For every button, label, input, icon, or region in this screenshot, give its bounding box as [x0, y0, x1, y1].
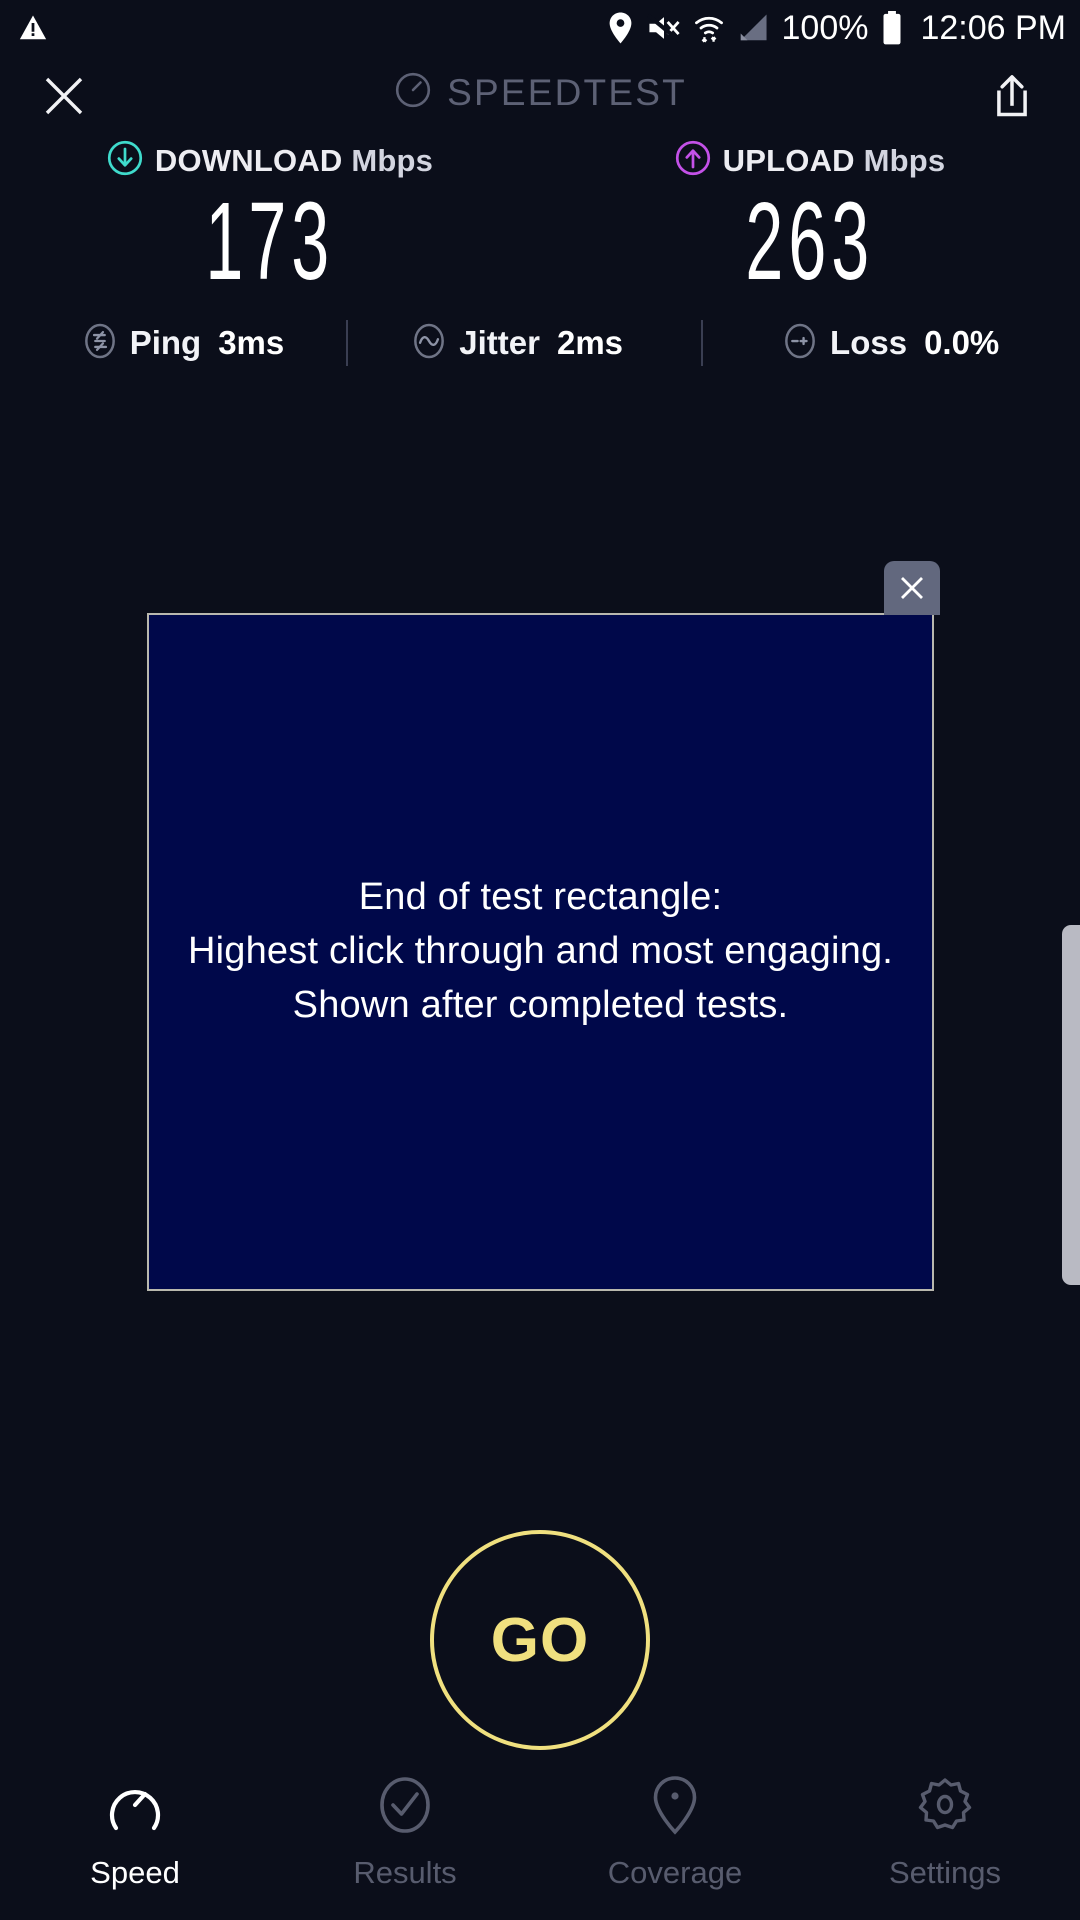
ad-line-1: End of test rectangle: [188, 871, 893, 925]
loss-value: 0.0% [924, 324, 999, 362]
download-value: 173 [206, 187, 335, 297]
wifi-icon [694, 12, 724, 44]
brand-logo: SPEEDTEST [0, 70, 1080, 115]
download-label-row: DOWNLOAD Mbps [107, 140, 433, 181]
nav-item-speed[interactable]: Speed [0, 1774, 270, 1891]
results-summary: DOWNLOAD Mbps 173 UPLOAD Mbps 263 [0, 140, 1080, 297]
status-bar-left [18, 13, 48, 43]
cellular-signal-icon [737, 13, 769, 43]
vertical-scrollbar[interactable] [1062, 925, 1080, 1285]
download-arrow-icon [107, 140, 143, 181]
gear-icon [914, 1774, 976, 1841]
jitter-icon [410, 322, 448, 365]
nav-item-results[interactable]: Results [270, 1774, 540, 1891]
status-bar-right: 100% 12:06 PM [607, 9, 1067, 48]
location-pin-icon [607, 12, 634, 44]
download-metric: DOWNLOAD Mbps 173 [0, 140, 540, 297]
upload-arrow-icon [675, 140, 711, 181]
ad-line-2: Highest click through and most engaging. [188, 925, 893, 979]
app-header: SPEEDTEST [0, 56, 1080, 134]
upload-metric: UPLOAD Mbps 263 [540, 140, 1080, 297]
status-bar: 100% 12:06 PM [0, 0, 1080, 56]
ping-jitter-loss-row: Ping 3ms Jitter 2ms [0, 320, 1080, 366]
speedometer-icon [104, 1774, 166, 1841]
nav-label-results: Results [353, 1855, 456, 1891]
divider-1 [346, 320, 348, 366]
jitter-label: Jitter [459, 324, 540, 362]
download-label: DOWNLOAD Mbps [155, 143, 433, 179]
loss-icon [781, 322, 819, 365]
nav-item-settings[interactable]: Settings [810, 1774, 1080, 1891]
go-button-wrapper: GO [0, 1530, 1080, 1750]
share-button[interactable] [984, 68, 1040, 124]
brand-title: SPEEDTEST [447, 72, 687, 114]
speedometer-icon [393, 70, 433, 115]
nav-label-coverage: Coverage [608, 1855, 742, 1891]
ad-text: End of test rectangle: Highest click thr… [188, 871, 893, 1033]
go-button-label: GO [491, 1605, 589, 1676]
download-upload-row: DOWNLOAD Mbps 173 UPLOAD Mbps 263 [0, 140, 1080, 297]
warning-triangle-icon [18, 13, 48, 43]
loss-label: Loss [830, 324, 907, 362]
ad-line-3: Shown after completed tests. [188, 979, 893, 1033]
volume-mute-icon [647, 13, 681, 43]
jitter-value: 2ms [557, 324, 623, 362]
loss-metric: Loss 0.0% [781, 322, 999, 365]
speedtest-app-screen: 100% 12:06 PM SP [0, 0, 1080, 1920]
upload-label-row: UPLOAD Mbps [675, 140, 946, 181]
nav-label-speed: Speed [90, 1855, 180, 1891]
location-pin-icon [644, 1774, 706, 1841]
jitter-metric: Jitter 2ms [410, 322, 623, 365]
bottom-navigation: Speed Results Coverage [0, 1760, 1080, 1920]
advertisement-banner[interactable]: End of test rectangle: Highest click thr… [147, 613, 934, 1291]
go-button[interactable]: GO [430, 1530, 650, 1750]
nav-item-coverage[interactable]: Coverage [540, 1774, 810, 1891]
ping-label: Ping [130, 324, 202, 362]
battery-percent-label: 100% [782, 9, 869, 48]
battery-full-icon [881, 11, 903, 45]
upload-label: UPLOAD Mbps [723, 143, 946, 179]
ad-close-button[interactable] [884, 561, 940, 615]
check-circle-icon [374, 1774, 436, 1841]
clock-label: 12:06 PM [920, 9, 1066, 48]
upload-value: 263 [746, 187, 875, 297]
ping-icon [81, 322, 119, 365]
ping-value: 3ms [218, 324, 284, 362]
divider-2 [701, 320, 703, 366]
nav-label-settings: Settings [889, 1855, 1001, 1891]
ping-metric: Ping 3ms [81, 322, 285, 365]
